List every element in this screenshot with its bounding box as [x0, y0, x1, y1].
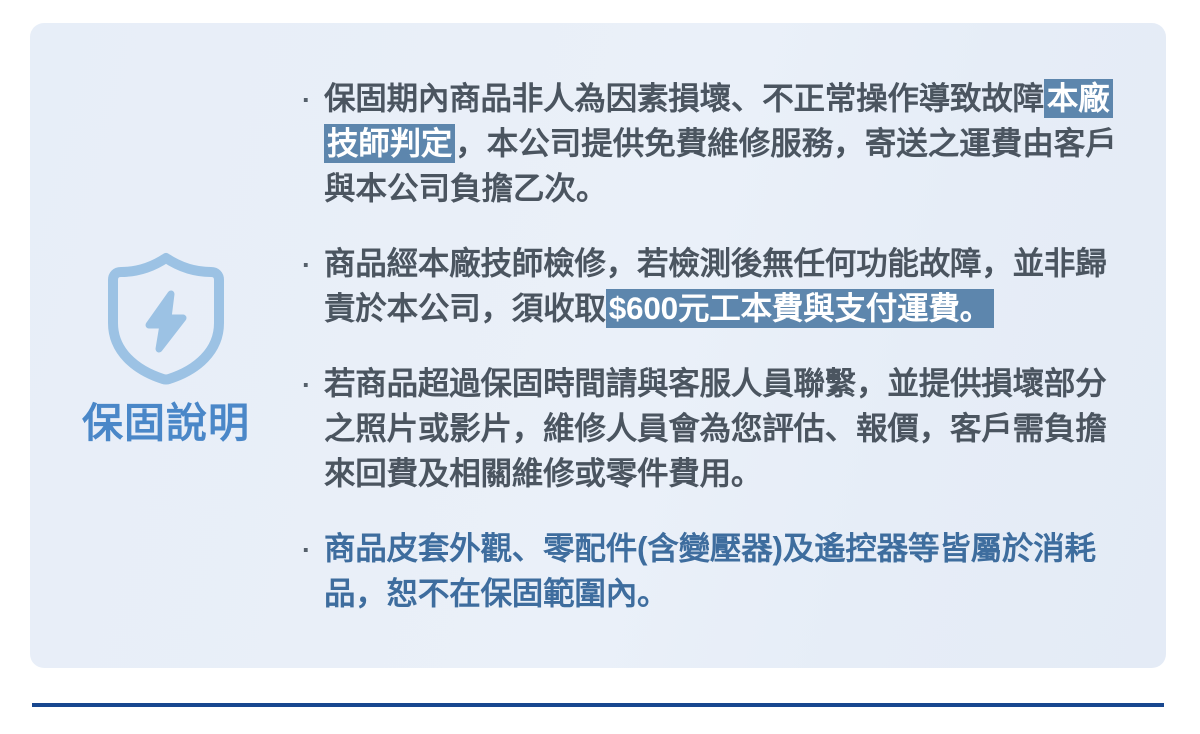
- bullet-marker: ·: [302, 526, 324, 572]
- list-item: · 商品經本廠技師檢修，若檢測後無任何功能故障，並非歸責於本公司，須收取$600…: [302, 241, 1136, 331]
- bullet-text-1: 保固期內商品非人為因素損壞、不正常操作導致故障本廠技師判定，本公司提供免費維修服…: [324, 76, 1136, 211]
- bullet-marker: ·: [302, 361, 324, 407]
- bullet-2-highlight-fee: $600元工本費與支付運費。: [606, 289, 994, 328]
- list-item: · 保固期內商品非人為因素損壞、不正常操作導致故障本廠技師判定，本公司提供免費維…: [302, 76, 1136, 211]
- list-item: · 若商品超過保固時間請與客服人員聯繫，並提供損壞部分之照片或影片，維修人員會為…: [302, 361, 1136, 496]
- warranty-card: 保固說明 · 保固期內商品非人為因素損壞、不正常操作導致故障本廠技師判定，本公司…: [30, 23, 1166, 668]
- bullet-marker: ·: [302, 76, 324, 122]
- bullet-text-3: 若商品超過保固時間請與客服人員聯繫，並提供損壞部分之照片或影片，維修人員會為您評…: [324, 361, 1136, 496]
- bullet-1-segment-plain-a: 保固期內商品非人為因素損壞、不正常操作導致故障: [324, 80, 1044, 116]
- warranty-bullet-list: · 保固期內商品非人為因素損壞、不正常操作導致故障本廠技師判定，本公司提供免費維…: [302, 72, 1166, 620]
- bullet-text-2: 商品經本廠技師檢修，若檢測後無任何功能故障，並非歸責於本公司，須收取$600元工…: [324, 241, 1136, 331]
- bottom-divider: [32, 703, 1164, 707]
- bullet-marker: ·: [302, 241, 324, 287]
- list-item: · 商品皮套外觀、零配件(含變壓器)及遙控器等皆屬於消耗品，恕不在保固範圍內。: [302, 526, 1136, 616]
- shield-bolt-icon: [105, 251, 227, 385]
- section-label: 保固說明: [82, 401, 250, 446]
- bullet-text-4: 商品皮套外觀、零配件(含變壓器)及遙控器等皆屬於消耗品，恕不在保固範圍內。: [324, 526, 1136, 616]
- warranty-card-left-column: 保固說明: [30, 245, 302, 446]
